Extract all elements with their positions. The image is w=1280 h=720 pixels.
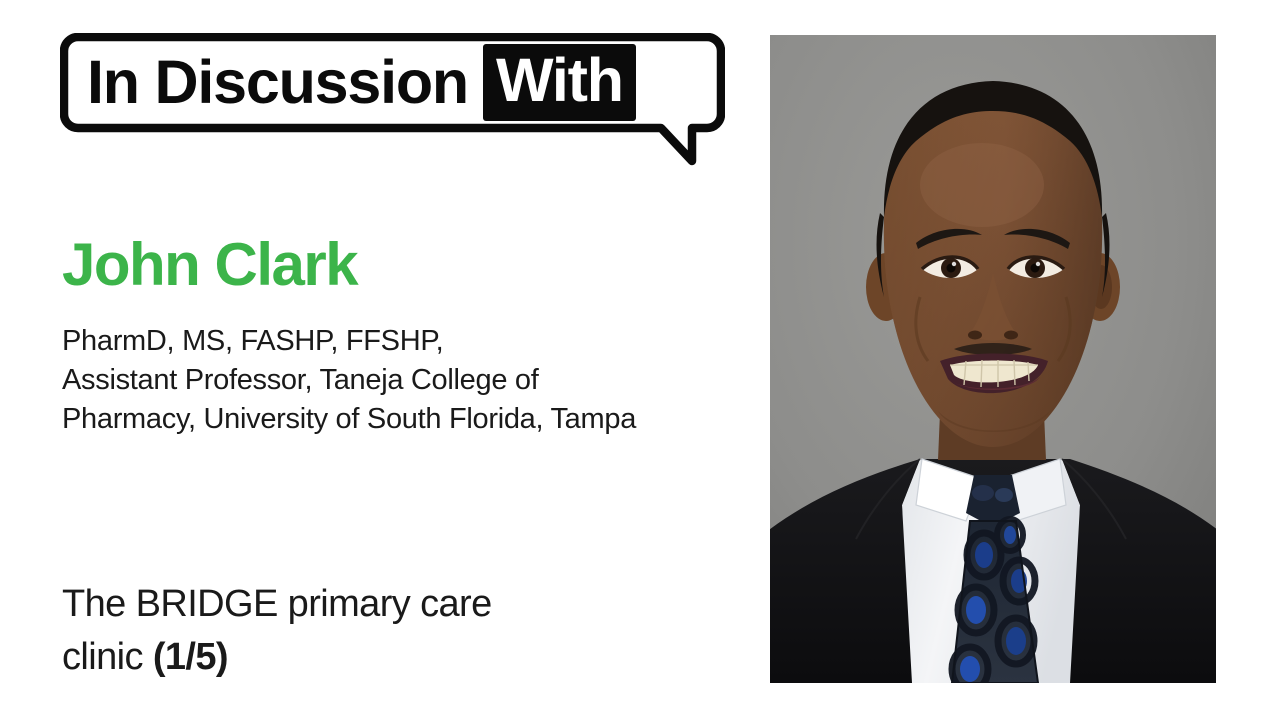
speaker-name: John Clark [62, 233, 357, 296]
episode-topic: The BRIDGE primary care clinic (1/5) [62, 578, 752, 684]
speaker-credentials: PharmD, MS, FASHP, FFSHP, Assistant Prof… [62, 322, 752, 439]
portrait-illustration [770, 35, 1216, 683]
slide-root: In Discussion With John Clark PharmD, MS… [0, 0, 1280, 720]
episode-counter: (1/5) [153, 636, 228, 678]
credential-line-3: Pharmacy, University of South Florida, T… [62, 400, 752, 439]
topic-line-2-prefix: clinic [62, 636, 153, 678]
topic-line-1: The BRIDGE primary care [62, 578, 752, 631]
credential-line-2: Assistant Professor, Taneja College of [62, 361, 752, 400]
topic-line-2: clinic (1/5) [62, 631, 752, 684]
brand-logo: In Discussion With [60, 33, 725, 178]
speaker-portrait-photo [770, 35, 1216, 683]
speech-bubble-icon [60, 33, 725, 178]
credential-line-1: PharmD, MS, FASHP, FFSHP, [62, 322, 752, 361]
